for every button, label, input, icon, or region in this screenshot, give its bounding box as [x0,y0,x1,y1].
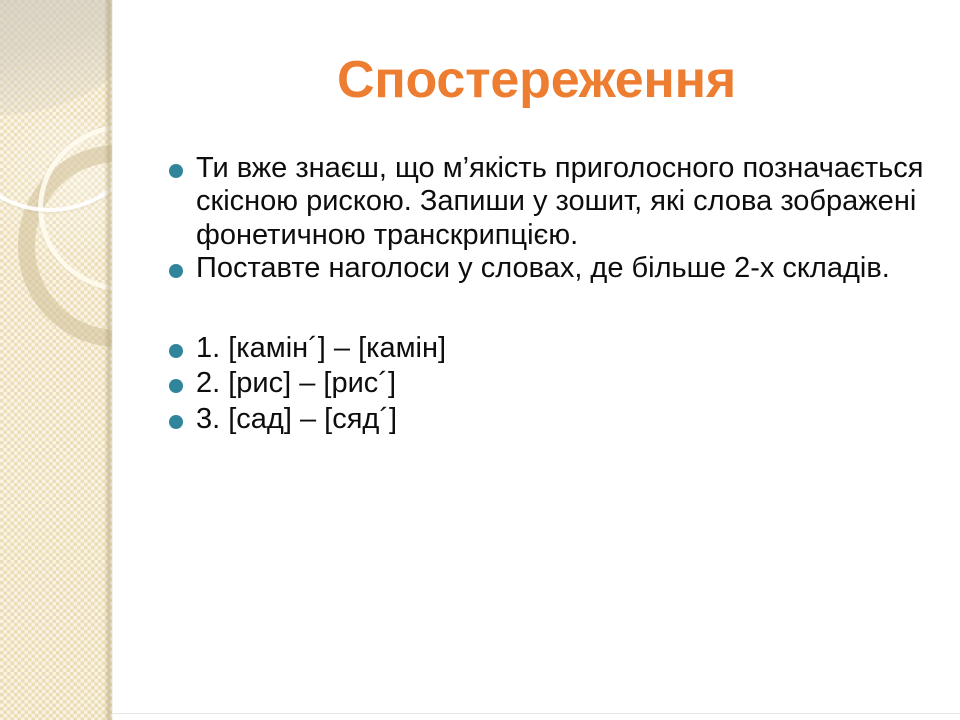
bullet-dot-icon [169,379,183,393]
slide-sidebar-decoration [0,0,112,720]
bullet-list: Ти вже знаєш, що м’якість приголосного п… [166,152,956,436]
list-item: 1. [камін´] – [камін] [166,332,956,365]
list-item: 2. [рис] – [рис´] [166,367,956,400]
bullet-dot-icon [169,164,183,178]
bullet-dot-icon [169,344,183,358]
bullet-text: 3. [сад] – [сяд´] [196,403,956,436]
bullet-text: 1. [камін´] – [камін] [196,332,956,365]
bullet-text: Поставте наголоси у словах, де більше 2-… [196,252,956,285]
slide-body: Ти вже знаєш, що м’якість приголосного п… [166,152,956,436]
bullet-text: 2. [рис] – [рис´] [196,367,956,400]
slide-title: Спостереження [113,52,960,108]
list-item-spacer [166,286,956,330]
presentation-slide: Спостереження Ти вже знаєш, що м’якість … [0,0,960,720]
list-item: Ти вже знаєш, що м’якість приголосного п… [166,152,956,252]
bottom-divider [113,713,960,714]
white-arc-icon [0,0,112,212]
list-item: 3. [сад] – [сяд´] [166,403,956,436]
sidebar-edge-shadow [104,0,113,720]
bullet-text: Ти вже знаєш, що м’якість приголосного п… [196,152,956,252]
bullet-dot-icon [169,415,183,429]
bullet-dot-icon [169,264,183,278]
list-item: Поставте наголоси у словах, де більше 2-… [166,252,956,285]
